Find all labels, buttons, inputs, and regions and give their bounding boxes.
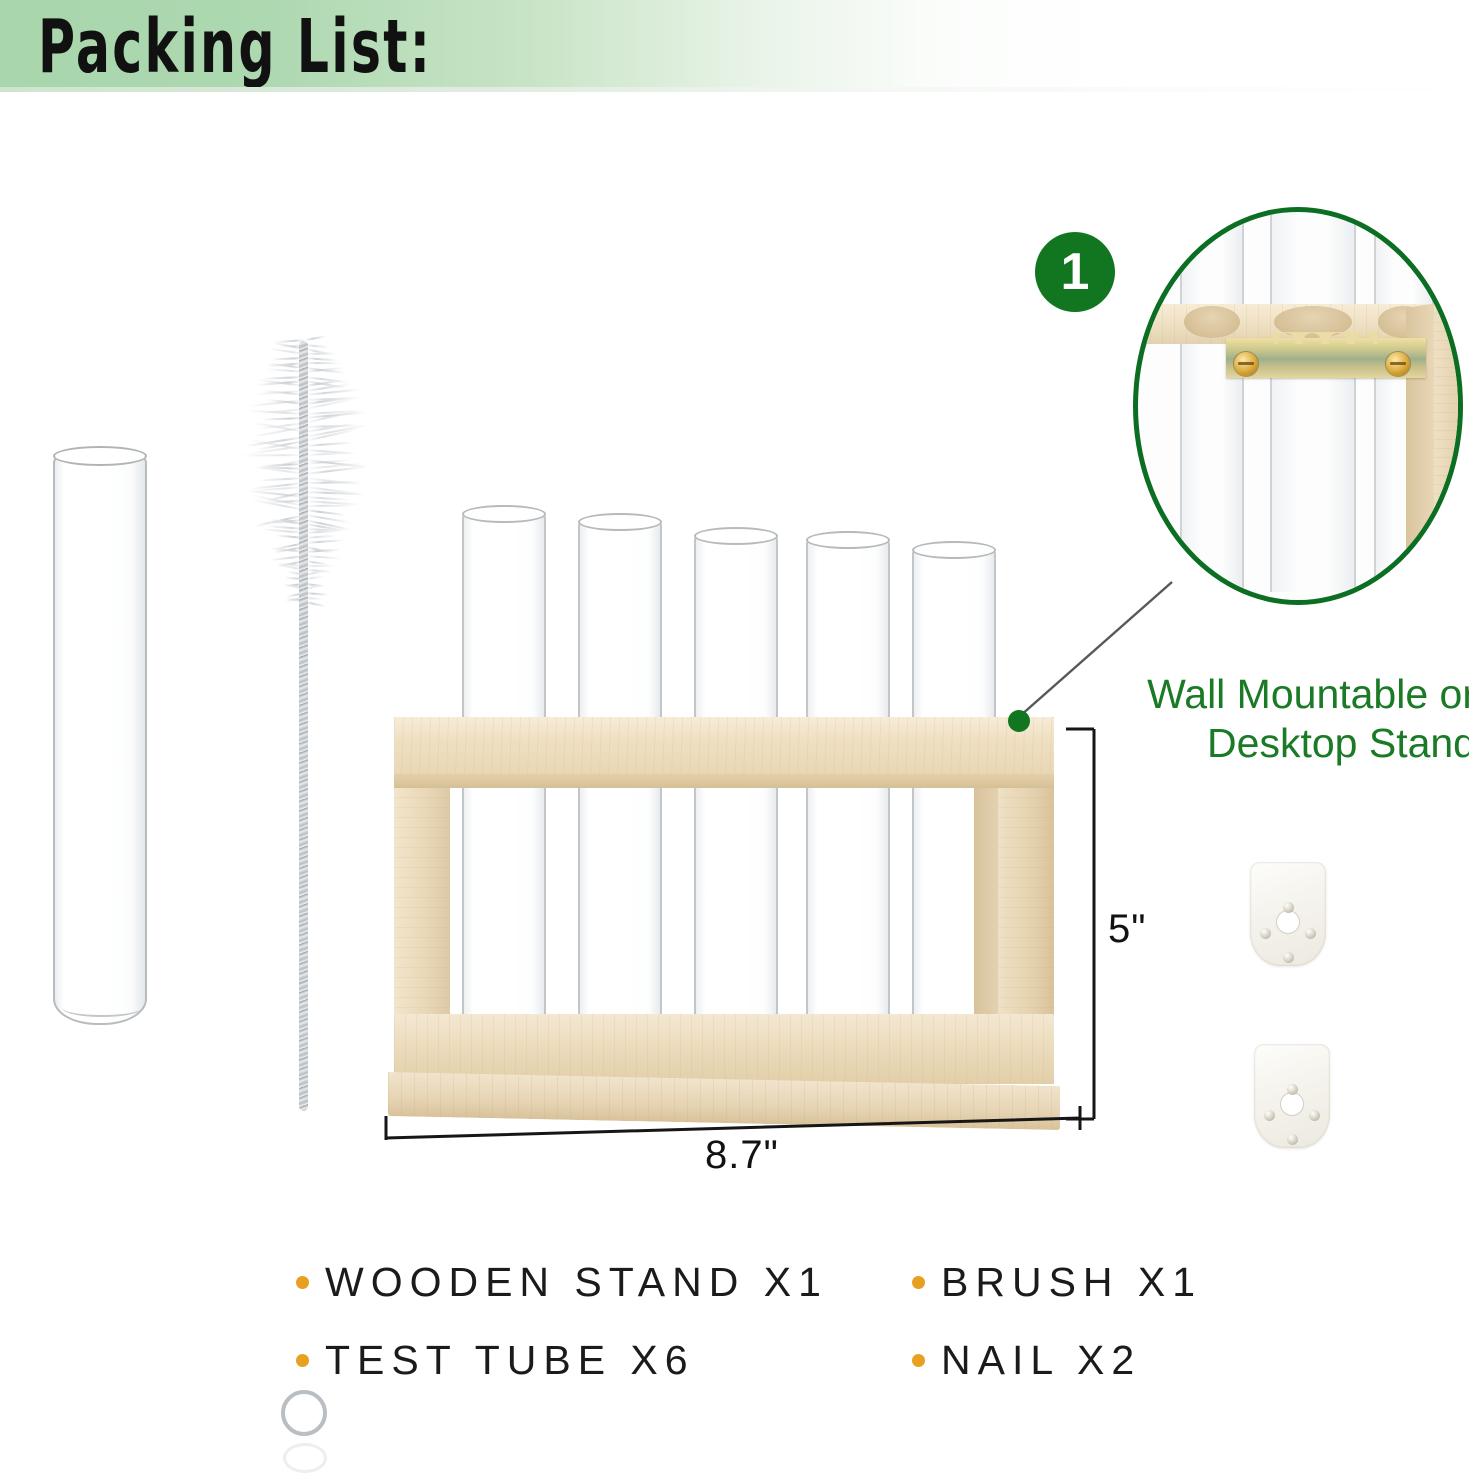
brush-wire-handle <box>299 341 308 1111</box>
callout-magnified-view <box>1133 207 1463 605</box>
stand-test-tube <box>806 538 890 1078</box>
test-tube-body <box>53 455 147 1025</box>
wooden-stand-product-image <box>378 512 1068 1132</box>
stand-test-tube-rim <box>806 531 890 549</box>
list-item: WOODEN STAND X1 <box>296 1260 828 1304</box>
nail-pin-bottom <box>1283 952 1294 963</box>
nail-plate-1 <box>1250 862 1326 966</box>
callout-caption-line-1: Wall Mountable or <box>1096 670 1469 719</box>
bullet-icon <box>912 1276 925 1289</box>
packing-list-infographic: Packing List: <box>0 0 1469 1388</box>
bullet-icon <box>296 1354 309 1367</box>
callout-tube-left <box>1180 207 1244 592</box>
list-item-label: WOODEN STAND X1 <box>325 1260 828 1304</box>
bullet-icon <box>296 1276 309 1289</box>
width-dimension-label: 8.7" <box>705 1133 779 1178</box>
stand-test-tube-rim <box>462 505 546 523</box>
test-tube-highlight <box>71 471 79 1005</box>
stand-test-tube-rim <box>578 513 662 531</box>
list-item: TEST TUBE X6 <box>296 1338 695 1382</box>
detail-callout-circle <box>1133 207 1463 605</box>
brush-product-image <box>250 335 360 1135</box>
bracket-screw-right <box>1386 352 1410 376</box>
stand-test-tube-highlight <box>594 534 600 1054</box>
stand-test-tube <box>462 512 546 1078</box>
callout-caption: Wall Mountable or Desktop Stand <box>1096 670 1469 768</box>
list-item-label: NAIL X2 <box>941 1338 1141 1382</box>
wall-mount-bracket <box>1226 338 1426 378</box>
nail-pin-right <box>1309 1110 1320 1121</box>
nail-pin-top <box>1283 902 1294 913</box>
brush-hanging-loop <box>281 1390 327 1436</box>
brush-loop-reflection <box>283 1443 327 1473</box>
nail-pin-right <box>1305 928 1316 939</box>
header-band: Packing List: <box>0 0 1469 92</box>
nail-plate-2 <box>1254 1044 1330 1148</box>
callout-frame-side <box>1434 304 1463 564</box>
callout-shelf-hole-left <box>1184 306 1240 338</box>
stand-test-tubes <box>378 512 1068 1092</box>
stand-test-tube <box>694 534 778 1078</box>
stand-test-tube-highlight <box>928 562 934 1054</box>
list-item-label: BRUSH X1 <box>941 1260 1202 1304</box>
test-tube-base <box>62 999 142 1017</box>
height-dimension-label: 5" <box>1108 907 1146 952</box>
list-item: BRUSH X1 <box>912 1260 1202 1304</box>
callout-anchor-dot <box>1008 710 1030 732</box>
callout-badge-number: 1 <box>1061 246 1090 298</box>
callout-badge-1: 1 <box>1035 232 1115 312</box>
callout-caption-line-2: Desktop Stand <box>1096 719 1469 768</box>
nail-pin-left <box>1264 1110 1275 1121</box>
stand-frame-top <box>394 717 1054 779</box>
stand-test-tube-highlight <box>478 526 484 1054</box>
stand-test-tube-highlight <box>710 548 716 1054</box>
stand-test-tube <box>578 520 662 1078</box>
stand-test-tube-rim <box>694 527 778 545</box>
callout-tube-center <box>1270 207 1356 592</box>
nail-pin-bottom <box>1287 1134 1298 1145</box>
test-tube-product-image <box>53 455 147 1025</box>
page-title: Packing List: <box>38 4 432 90</box>
list-item-label: TEST TUBE X6 <box>325 1338 695 1382</box>
stand-frame-top-front-edge <box>394 774 1054 788</box>
nail-pin-left <box>1260 928 1271 939</box>
stand-test-tube-highlight <box>822 552 828 1054</box>
list-item: NAIL X2 <box>912 1338 1141 1382</box>
stand-test-tube-rim <box>912 541 996 559</box>
packing-list-items: WOODEN STAND X1 TEST TUBE X6 BRUSH X1 NA… <box>296 1252 1296 1382</box>
test-tube-rim <box>53 446 147 466</box>
nail-pin-top <box>1287 1084 1298 1095</box>
bullet-icon <box>912 1354 925 1367</box>
bracket-screw-left <box>1234 352 1258 376</box>
